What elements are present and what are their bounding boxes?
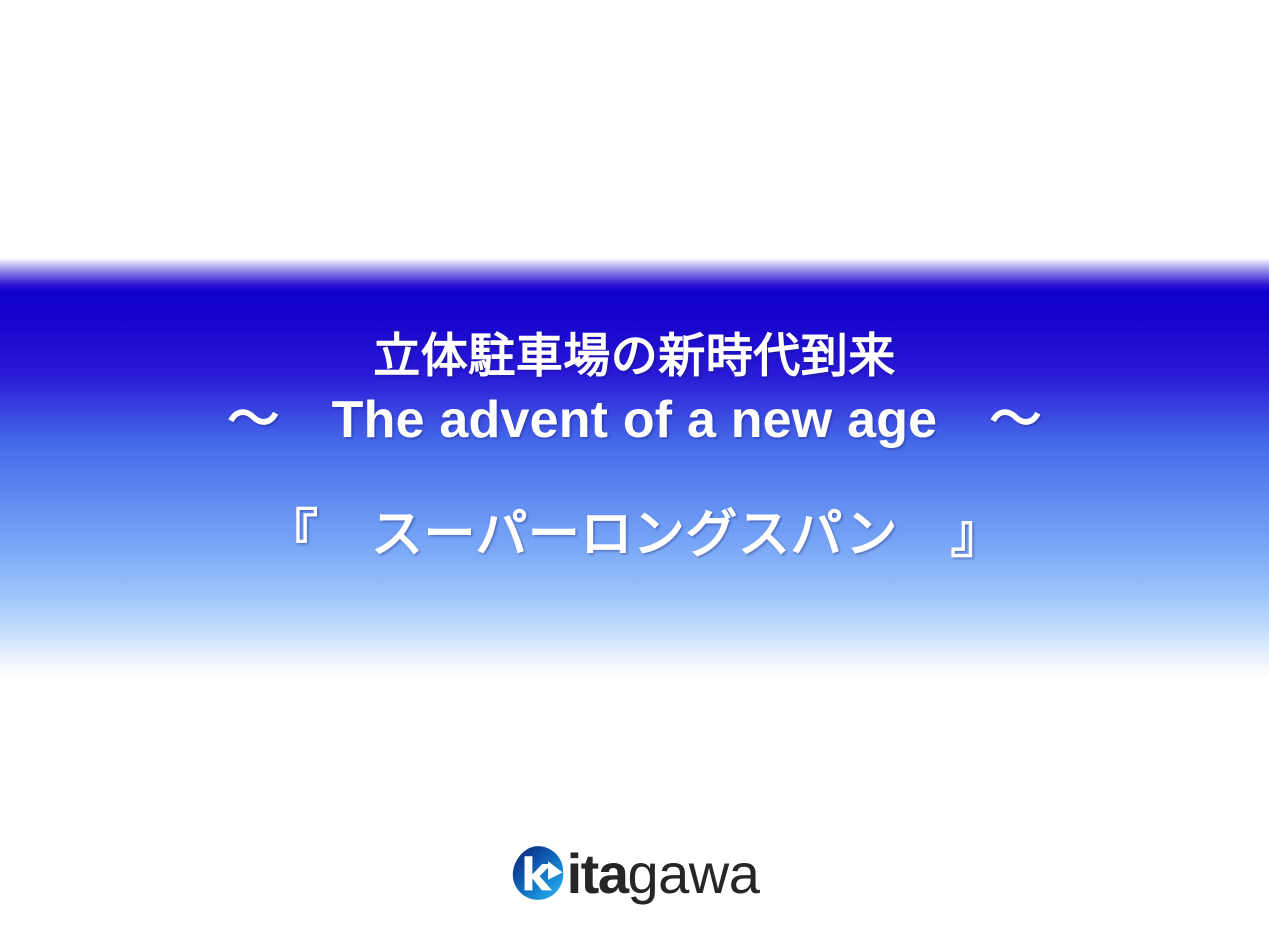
logo-wordmark: itagawa <box>567 846 760 902</box>
logo-wordmark-light: gawa <box>627 842 759 905</box>
title-slide: 立体駐車場の新時代到来 ～ The advent of a new age ～ … <box>0 0 1269 950</box>
kitagawa-logo: itagawa <box>0 845 1269 901</box>
kitagawa-circle-k-mark-icon <box>510 845 566 901</box>
logo-inner: itagawa <box>510 845 760 901</box>
slide-product-name-katakana: 『 スーパーロングスパン 』 <box>0 447 1269 562</box>
title-block: 立体駐車場の新時代到来 ～ The advent of a new age ～ … <box>0 330 1269 562</box>
slide-subtitle-english: ～ The advent of a new age ～ <box>0 380 1269 447</box>
slide-title-japanese: 立体駐車場の新時代到来 <box>0 330 1269 380</box>
logo-wordmark-bold: ita <box>567 842 628 905</box>
